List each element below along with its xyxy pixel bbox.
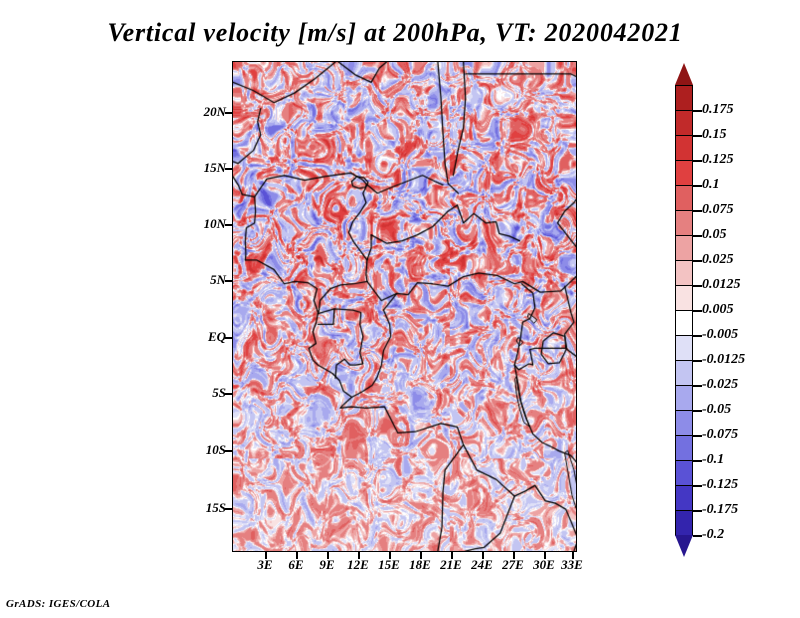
colorbar-tick-label: -0.025 <box>702 377 738 393</box>
colorbar-tick-label: 0.15 <box>702 127 727 143</box>
colorbar-tick-label: 0.125 <box>702 152 734 168</box>
y-tick-mark <box>225 337 232 339</box>
colorbar-tick-mark <box>693 485 702 487</box>
x-tick-mark <box>358 552 360 559</box>
x-tick-mark <box>327 552 329 559</box>
grads-attribution: GrADS: IGES/COLA <box>6 598 111 610</box>
x-tick-label: 21E <box>440 557 462 573</box>
colorbar-tick-label: 0.0125 <box>702 277 741 293</box>
y-tick-mark <box>225 280 232 282</box>
y-tick-mark <box>225 112 232 114</box>
y-tick-mark <box>225 450 232 452</box>
colorbar-band <box>675 460 693 486</box>
x-tick-label: 6E <box>288 557 303 573</box>
colorbar-band <box>675 110 693 136</box>
x-tick-mark <box>296 552 298 559</box>
x-tick-label: 15E <box>378 557 400 573</box>
colorbar-band <box>675 485 693 511</box>
colorbar-tick-label: 0.075 <box>702 202 734 218</box>
colorbar-band <box>675 285 693 311</box>
colorbar-band <box>675 510 693 536</box>
colorbar-band <box>675 185 693 211</box>
colorbar-band <box>675 160 693 186</box>
colorbar-tick-mark <box>693 235 702 237</box>
x-tick-mark <box>482 552 484 559</box>
x-tick-label: 30E <box>533 557 555 573</box>
colorbar-tick-mark <box>693 160 702 162</box>
colorbar-tick-mark <box>693 435 702 437</box>
colorbar-band <box>675 385 693 411</box>
x-tick-mark <box>572 552 574 559</box>
x-tick-label: 33E <box>561 557 583 573</box>
colorbar <box>675 63 693 557</box>
x-tick-mark <box>420 552 422 559</box>
colorbar-tick-mark <box>693 460 702 462</box>
x-tick-label: 12E <box>347 557 369 573</box>
x-tick-label: 27E <box>502 557 524 573</box>
x-tick-mark <box>513 552 515 559</box>
y-tick-mark <box>225 393 232 395</box>
colorbar-band <box>675 410 693 436</box>
colorbar-band <box>675 85 693 111</box>
colorbar-tick-mark <box>693 260 702 262</box>
colorbar-band <box>675 310 693 336</box>
x-tick-label: 9E <box>319 557 334 573</box>
y-tick-mark <box>225 168 232 170</box>
colorbar-tick-label: 0.1 <box>702 177 720 193</box>
colorbar-tick-mark <box>693 210 702 212</box>
colorbar-tick-mark <box>693 335 702 337</box>
colorbar-tick-mark <box>693 535 702 537</box>
grads-plot-window: Vertical velocity [m/s] at 200hPa, VT: 2… <box>0 0 800 618</box>
colorbar-band <box>675 335 693 361</box>
colorbar-tick-mark <box>693 385 702 387</box>
colorbar-band <box>675 260 693 286</box>
colorbar-tick-label: -0.05 <box>702 402 731 418</box>
x-tick-label: 18E <box>409 557 431 573</box>
colorbar-tick-label: -0.1 <box>702 452 724 468</box>
x-tick-label: 24E <box>471 557 493 573</box>
colorbar-band <box>675 360 693 386</box>
colorbar-tick-label: -0.075 <box>702 427 738 443</box>
x-tick-mark <box>451 552 453 559</box>
colorbar-band <box>675 135 693 161</box>
x-tick-mark <box>265 552 267 559</box>
colorbar-tick-mark <box>693 410 702 412</box>
colorbar-tick-mark <box>693 310 702 312</box>
colorbar-tick-label: 0.005 <box>702 302 734 318</box>
colorbar-tick-mark <box>693 135 702 137</box>
y-tick-mark <box>225 508 232 510</box>
colorbar-tick-label: -0.2 <box>702 527 724 543</box>
colorbar-tick-mark <box>693 510 702 512</box>
colorbar-bottom-arrow <box>675 535 693 557</box>
colorbar-tick-label: -0.005 <box>702 327 738 343</box>
colorbar-tick-label: 0.025 <box>702 252 734 268</box>
colorbar-tick-label: 0.175 <box>702 102 734 118</box>
x-tick-label: 3E <box>257 557 272 573</box>
colorbar-tick-label: -0.175 <box>702 502 738 518</box>
colorbar-band <box>675 235 693 261</box>
colorbar-band <box>675 435 693 461</box>
colorbar-tick-label: -0.125 <box>702 477 738 493</box>
colorbar-tick-mark <box>693 110 702 112</box>
colorbar-tick-label: -0.0125 <box>702 352 745 368</box>
colorbar-tick-mark <box>693 185 702 187</box>
colorbar-tick-mark <box>693 360 702 362</box>
colorbar-tick-mark <box>693 285 702 287</box>
colorbar-top-arrow <box>675 63 693 85</box>
x-tick-mark <box>389 552 391 559</box>
colorbar-band <box>675 210 693 236</box>
y-tick-mark <box>225 224 232 226</box>
colorbar-tick-label: 0.05 <box>702 227 727 243</box>
x-tick-mark <box>544 552 546 559</box>
